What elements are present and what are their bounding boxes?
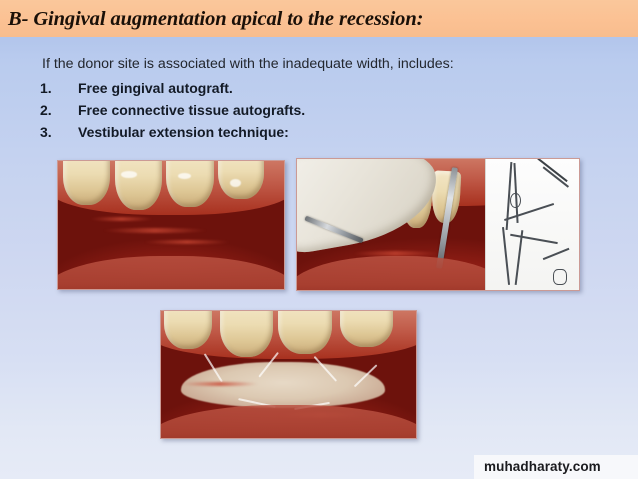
presentation-slide: B- Gingival augmentation apical to the r… <box>0 0 638 479</box>
clinical-photo-graft-placement-with-diagram <box>296 158 580 291</box>
slide-title: B- Gingival augmentation apical to the r… <box>8 8 423 31</box>
blood-highlight <box>181 382 258 386</box>
list-item-label: Vestibular extension technique: <box>78 124 289 140</box>
specular-highlight <box>230 179 241 187</box>
numbered-list: 1. Free gingival autograft. 2. Free conn… <box>40 80 510 146</box>
list-item: 3. Vestibular extension technique: <box>40 124 510 146</box>
photo-content <box>58 161 284 289</box>
diagram-stroke <box>502 227 510 284</box>
photo-content <box>161 311 416 438</box>
list-item-number: 3. <box>40 124 78 140</box>
clinical-photo-recipient-site <box>57 160 285 290</box>
blood-highlight <box>103 228 207 233</box>
list-item-label: Free gingival autograft. <box>78 80 233 96</box>
diagram-marker <box>553 269 567 285</box>
diagram-stroke <box>514 230 522 285</box>
watermark-label: muhadharaty.com <box>484 459 601 474</box>
photo-content <box>297 159 579 290</box>
slide-title-bar: B- Gingival augmentation apical to the r… <box>0 0 638 37</box>
list-item-number: 2. <box>40 102 78 118</box>
watermark-bar: muhadharaty.com <box>474 455 638 479</box>
list-item: 1. Free gingival autograft. <box>40 80 510 102</box>
tooth <box>115 160 162 210</box>
clinical-photo-sutured-graft <box>160 310 417 439</box>
specular-highlight <box>178 173 192 179</box>
diagram-marker <box>510 193 520 208</box>
intro-paragraph: If the donor site is associated with the… <box>42 56 454 72</box>
diagram-needle <box>538 158 569 182</box>
tooth <box>340 310 394 347</box>
technique-schematic-diagram <box>485 159 579 290</box>
diagram-stroke <box>510 233 558 243</box>
diagram-needle <box>543 166 569 187</box>
list-item: 2. Free connective tissue autografts. <box>40 102 510 124</box>
diagram-stroke <box>543 248 569 260</box>
tooth <box>63 160 110 205</box>
list-item-number: 1. <box>40 80 78 96</box>
list-item-label: Free connective tissue autografts. <box>78 102 305 118</box>
specular-highlight <box>121 171 137 177</box>
